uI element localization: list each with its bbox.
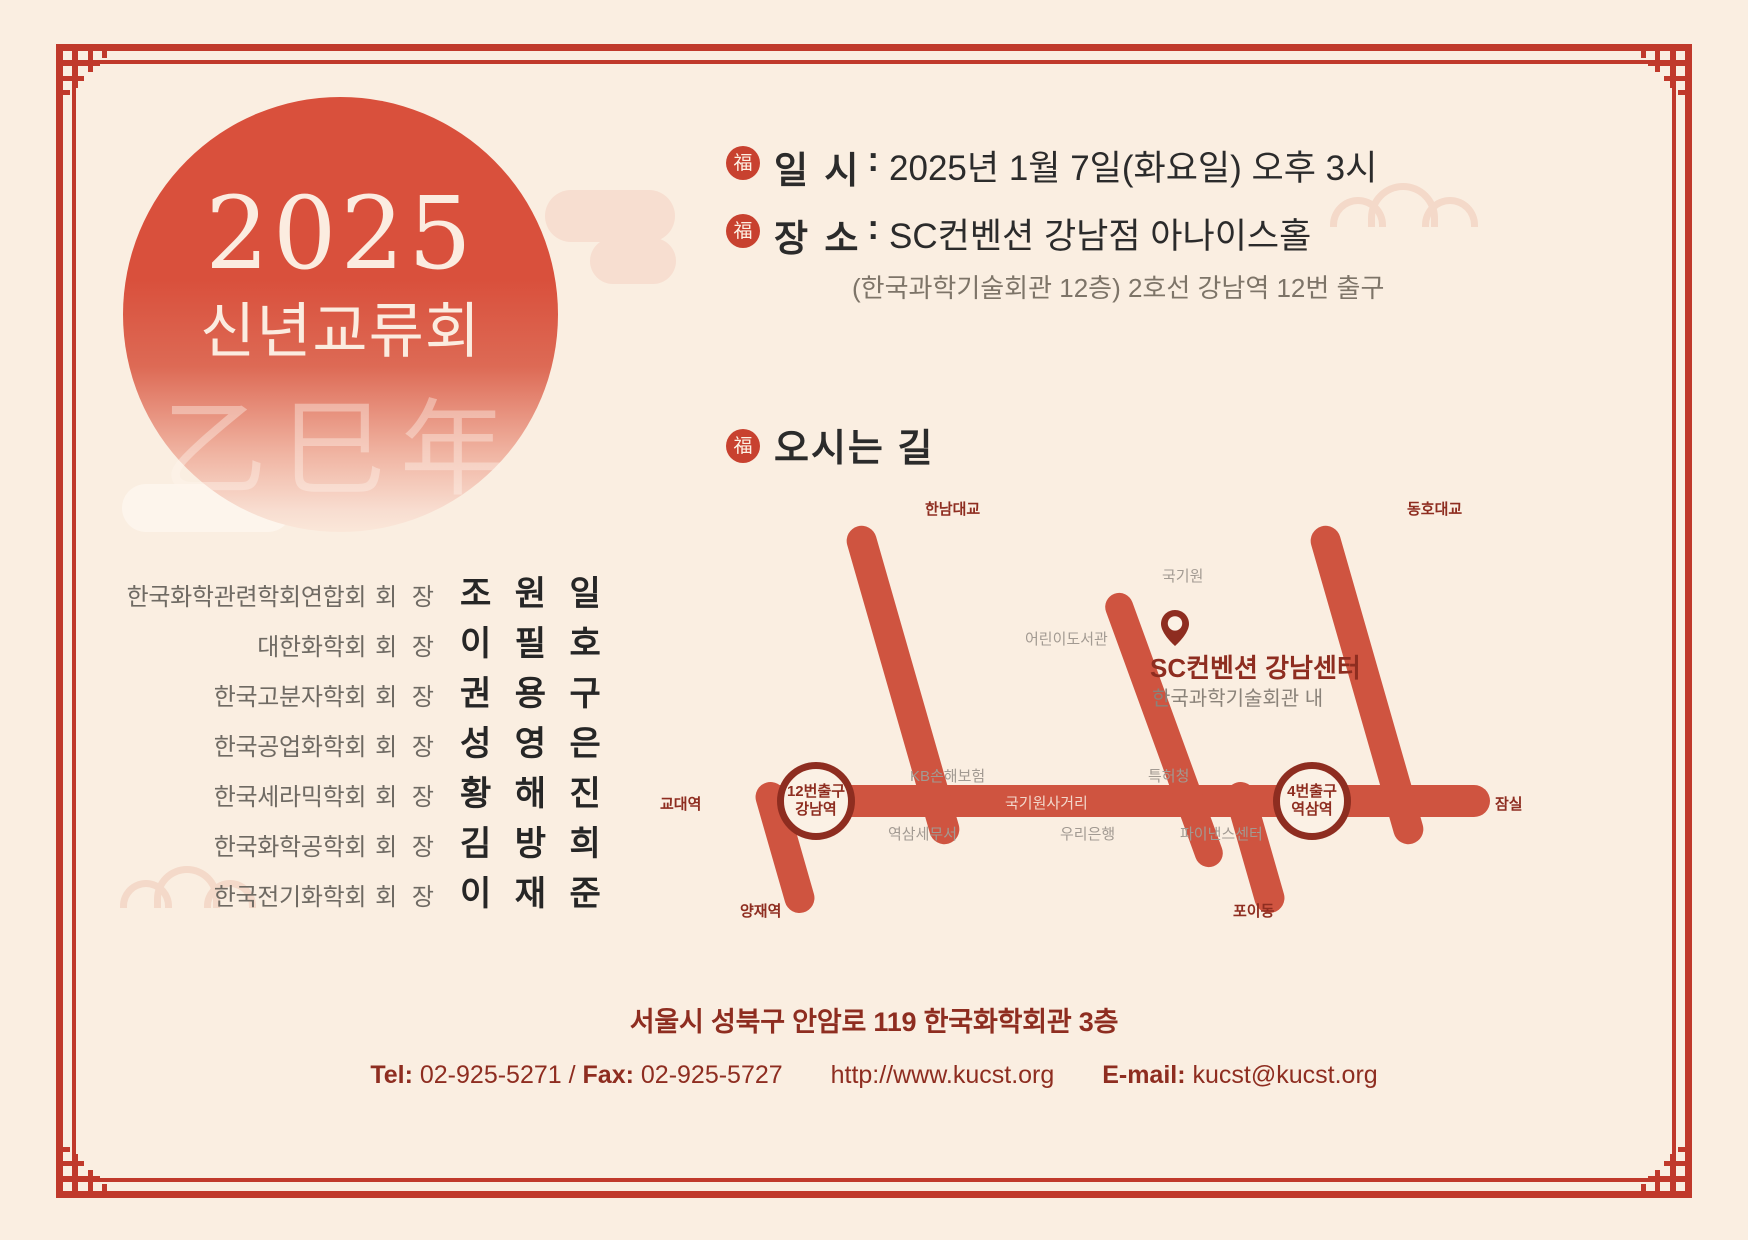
map-poi-woori-bank: 우리은행 [1060,823,1115,844]
corner-ornament-top-left [56,44,116,104]
map-pin-icon [1161,610,1189,646]
corner-ornament-bottom-right [1632,1138,1692,1198]
footer: 서울시 성북구 안암로 119 한국화학회관 3층 Tel: 02-925-52… [0,1000,1748,1090]
fortune-badge-icon: 福 [726,429,760,463]
footer-website-link[interactable]: http://www.kucst.org [831,1061,1055,1089]
map-venue-description: 한국과학기술회관 내 [1152,682,1323,711]
chair-row: 한국고분자학회 회 장 권 용 구 [120,666,590,716]
event-venue-colon: : [867,208,879,248]
chair-name: 권 용 구 [460,666,590,715]
fortune-badge-icon: 福 [726,214,760,248]
map-poi-finance-center: 파이낸스센터 [1180,823,1263,844]
map-poi-kb-insurance: KB손해보험 [910,765,985,786]
chair-organization: 대한화학회 [257,627,366,662]
map-label-poidong: 포이동 [1233,900,1274,921]
map-poi-yeoksam-tax-office: 역삼세무서 [888,823,957,844]
map-poi-childrens-library: 어린이도서관 [1025,628,1108,649]
chair-organization: 한국화학관련학회연합회 [127,577,367,612]
event-date-label: 일 시 [774,140,861,194]
map-label-kukkiwon-intersection: 국기원사거리 [1005,792,1088,813]
chair-name: 성 영 은 [460,716,590,765]
chair-name: 김 방 희 [460,816,590,865]
event-date-colon: : [867,140,879,180]
chair-row: 한국화학공학회 회 장 김 방 희 [120,816,590,866]
directions-heading-row: 福 오시는 길 [726,417,1384,472]
map-station-gangnam-exit: 12번출구 [787,783,845,801]
chair-title: 회 장 [375,577,438,612]
event-venue-value: SC컨벤션 강남점 아나이스홀 [889,208,1311,259]
map-station-gangnam-name: 강남역 [795,801,836,819]
cloud-decoration-right-2 [590,238,676,284]
chair-title: 회 장 [375,627,438,662]
footer-tel-label: Tel: [370,1061,413,1089]
footer-email-value[interactable]: kucst@kucst.org [1193,1061,1378,1089]
map-venue-name: SC컨벤션 강남센터 [1150,648,1361,685]
map-label-yangjae-station: 양재역 [740,900,781,921]
event-date-row: 福 일 시 : 2025년 1월 7일(화요일) 오후 3시 [726,140,1384,194]
chair-title: 회 장 [375,677,438,712]
cloud-decoration-right-1 [545,190,675,242]
map-poi-patent-office: 특허청 [1148,765,1189,786]
directions-heading-label: 오시는 길 [774,417,934,472]
map-station-yeoksam-name: 역삼역 [1291,801,1332,819]
logo-hanja-text: 乙巳年 [123,365,558,517]
chair-name: 이 재 준 [460,866,590,915]
map-label-gyodae-station: 교대역 [660,793,701,814]
chair-organization: 한국화학공학회 [214,827,366,862]
footer-contact-line: Tel: 02-925-5271 / Fax: 02-925-5727 http… [0,1061,1748,1090]
footer-tel-value: 02-925-5271 [420,1061,562,1089]
map-poi-kukkiwon: 국기원 [1162,565,1203,586]
event-info-block: 福 일 시 : 2025년 1월 7일(화요일) 오후 3시 福 장 소 : S… [726,140,1384,472]
chair-name: 조 원 일 [460,566,590,615]
chair-name: 이 필 호 [460,616,590,665]
chair-title: 회 장 [375,777,438,812]
footer-email-label: E-mail: [1102,1061,1185,1089]
chair-title: 회 장 [375,727,438,762]
map-station-gangnam: 12번출구 강남역 [777,762,855,840]
corner-ornament-top-right [1632,44,1692,104]
location-map: 한남대교 동호대교 교대역 잠실 양재역 포이동 국기원 어린이도서관 KB손해… [640,480,1510,940]
chair-row: 한국전기화학회 회 장 이 재 준 [120,866,590,916]
footer-separator: / [569,1061,576,1089]
logo-subtitle-text: 신년교류회 [123,283,558,370]
chair-title: 회 장 [375,877,438,912]
chair-row: 한국공업화학회 회 장 성 영 은 [120,716,590,766]
map-station-yeoksam: 4번출구 역삼역 [1273,762,1351,840]
footer-fax-value: 02-925-5727 [641,1061,783,1089]
chair-row: 대한화학회 회 장 이 필 호 [120,616,590,666]
event-logo-circle: 乙巳年 2025 신년교류회 [123,97,558,532]
chair-title: 회 장 [375,827,438,862]
map-station-yeoksam-exit: 4번출구 [1287,783,1337,801]
event-date-value: 2025년 1월 7일(화요일) 오후 3시 [889,140,1377,191]
chair-name: 황 해 진 [460,766,590,815]
chair-row: 한국화학관련학회연합회 회 장 조 원 일 [120,566,590,616]
chair-organization: 한국세라믹학회 [214,777,366,812]
map-label-jamsil: 잠실 [1495,793,1523,814]
event-venue-row: 福 장 소 : SC컨벤션 강남점 아나이스홀 [726,208,1384,262]
chair-row: 한국세라믹학회 회 장 황 해 진 [120,766,590,816]
event-venue-subtext: (한국과학기술회관 12층) 2호선 강남역 12번 출구 [852,268,1384,305]
logo-year-text: 2025 [123,175,558,292]
footer-address: 서울시 성북구 안암로 119 한국화학회관 3층 [0,1000,1748,1039]
chairman-list: 한국화학관련학회연합회 회 장 조 원 일 대한화학회 회 장 이 필 호 한국… [120,566,590,916]
event-venue-label: 장 소 [774,208,861,262]
chair-organization: 한국전기화학회 [214,877,366,912]
fortune-badge-icon: 福 [726,146,760,180]
corner-ornament-bottom-left [56,1138,116,1198]
footer-fax-label: Fax: [583,1061,634,1089]
chair-organization: 한국고분자학회 [214,677,366,712]
map-label-hannam-bridge: 한남대교 [925,498,980,519]
chair-organization: 한국공업화학회 [214,727,366,762]
map-label-dongho-bridge: 동호대교 [1407,498,1462,519]
